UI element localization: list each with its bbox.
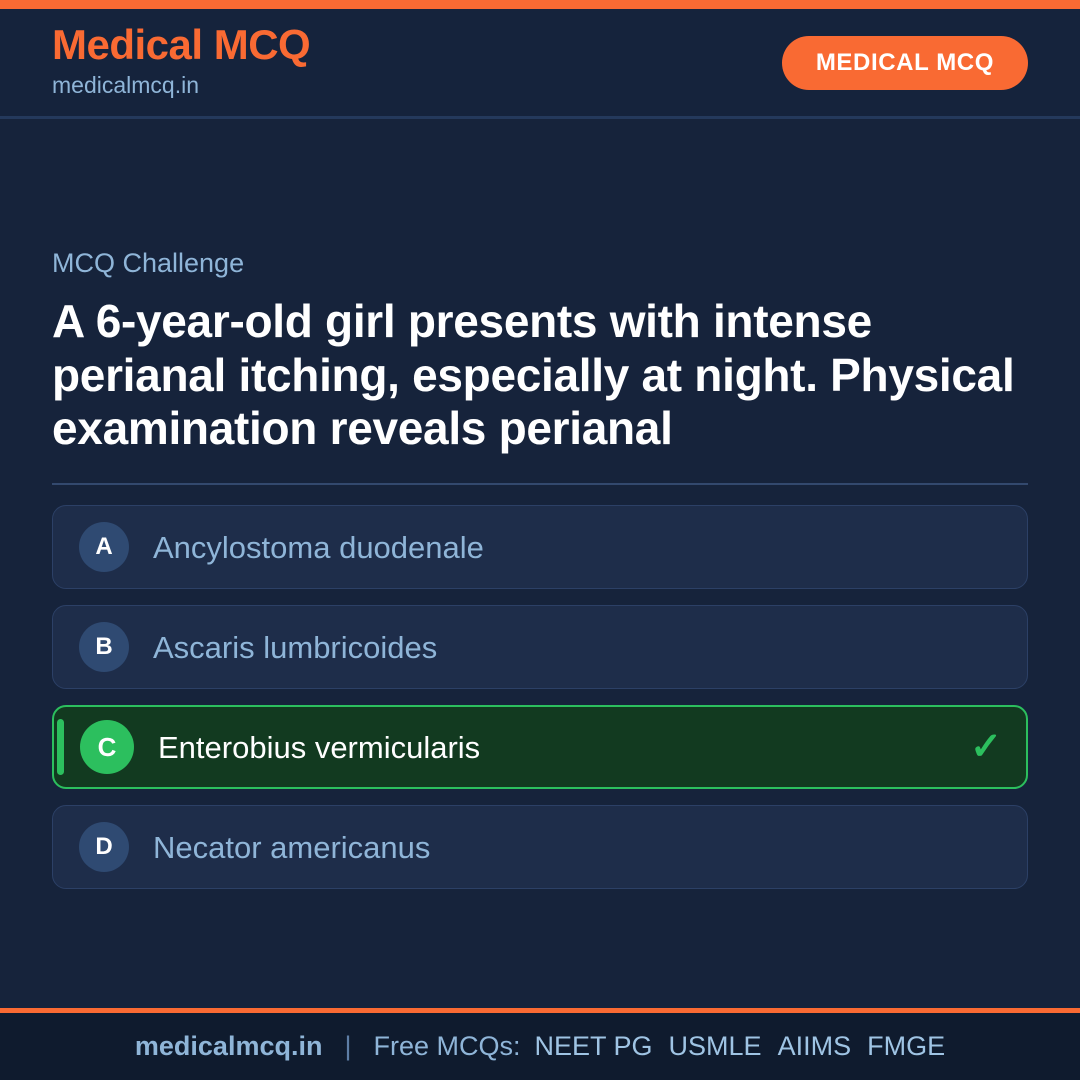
question-divider: [52, 483, 1028, 485]
option-label: Necator americanus: [153, 829, 959, 866]
options-list: A Ancylostoma duodenale ✓ B Ascaris lumb…: [52, 505, 1028, 889]
option-label: Ancylostoma duodenale: [153, 529, 959, 566]
top-accent-rule: [0, 0, 1080, 9]
footer-exam-fmge[interactable]: FMGE: [867, 1031, 945, 1062]
option-letter-badge: C: [80, 720, 134, 774]
brand-title: Medical MCQ: [52, 24, 310, 67]
footer-exam-neet-pg[interactable]: NEET PG: [535, 1031, 653, 1062]
selected-accent-bar: [57, 719, 64, 775]
question-text: A 6-year-old girl presents with intense …: [52, 295, 1028, 455]
option-c[interactable]: C Enterobius vermicularis ✓: [52, 705, 1028, 789]
option-letter-badge: B: [79, 622, 129, 672]
brand-subtitle: medicalmcq.in: [52, 70, 310, 101]
option-label: Ascaris lumbricoides: [153, 629, 959, 666]
option-letter-badge: A: [79, 522, 129, 572]
footer-exam-list: NEET PG USMLE AIIMS FMGE: [535, 1031, 946, 1062]
check-icon: ✓: [970, 728, 1002, 766]
option-a[interactable]: A Ancylostoma duodenale ✓: [52, 505, 1028, 589]
footer-bar: medicalmcq.in | Free MCQs: NEET PG USMLE…: [0, 1008, 1080, 1080]
option-b[interactable]: B Ascaris lumbricoides ✓: [52, 605, 1028, 689]
brand-badge: MEDICAL MCQ: [782, 36, 1028, 90]
option-d[interactable]: D Necator americanus ✓: [52, 805, 1028, 889]
question-area: MCQ Challenge A 6-year-old girl presents…: [0, 119, 1080, 1008]
footer-exam-usmle[interactable]: USMLE: [669, 1031, 762, 1062]
header-bar: Medical MCQ medicalmcq.in MEDICAL MCQ: [0, 9, 1080, 119]
footer-site-link[interactable]: medicalmcq.in: [135, 1031, 323, 1062]
footer-exam-aiims[interactable]: AIIMS: [778, 1031, 852, 1062]
option-label: Enterobius vermicularis: [158, 729, 958, 766]
footer-separator: |: [336, 1031, 359, 1062]
option-letter-badge: D: [79, 822, 129, 872]
footer-label: Free MCQs:: [373, 1031, 520, 1062]
mcq-card: Medical MCQ medicalmcq.in MEDICAL MCQ MC…: [0, 0, 1080, 1080]
section-eyebrow: MCQ Challenge: [52, 247, 1028, 279]
brand: Medical MCQ medicalmcq.in: [52, 24, 310, 101]
